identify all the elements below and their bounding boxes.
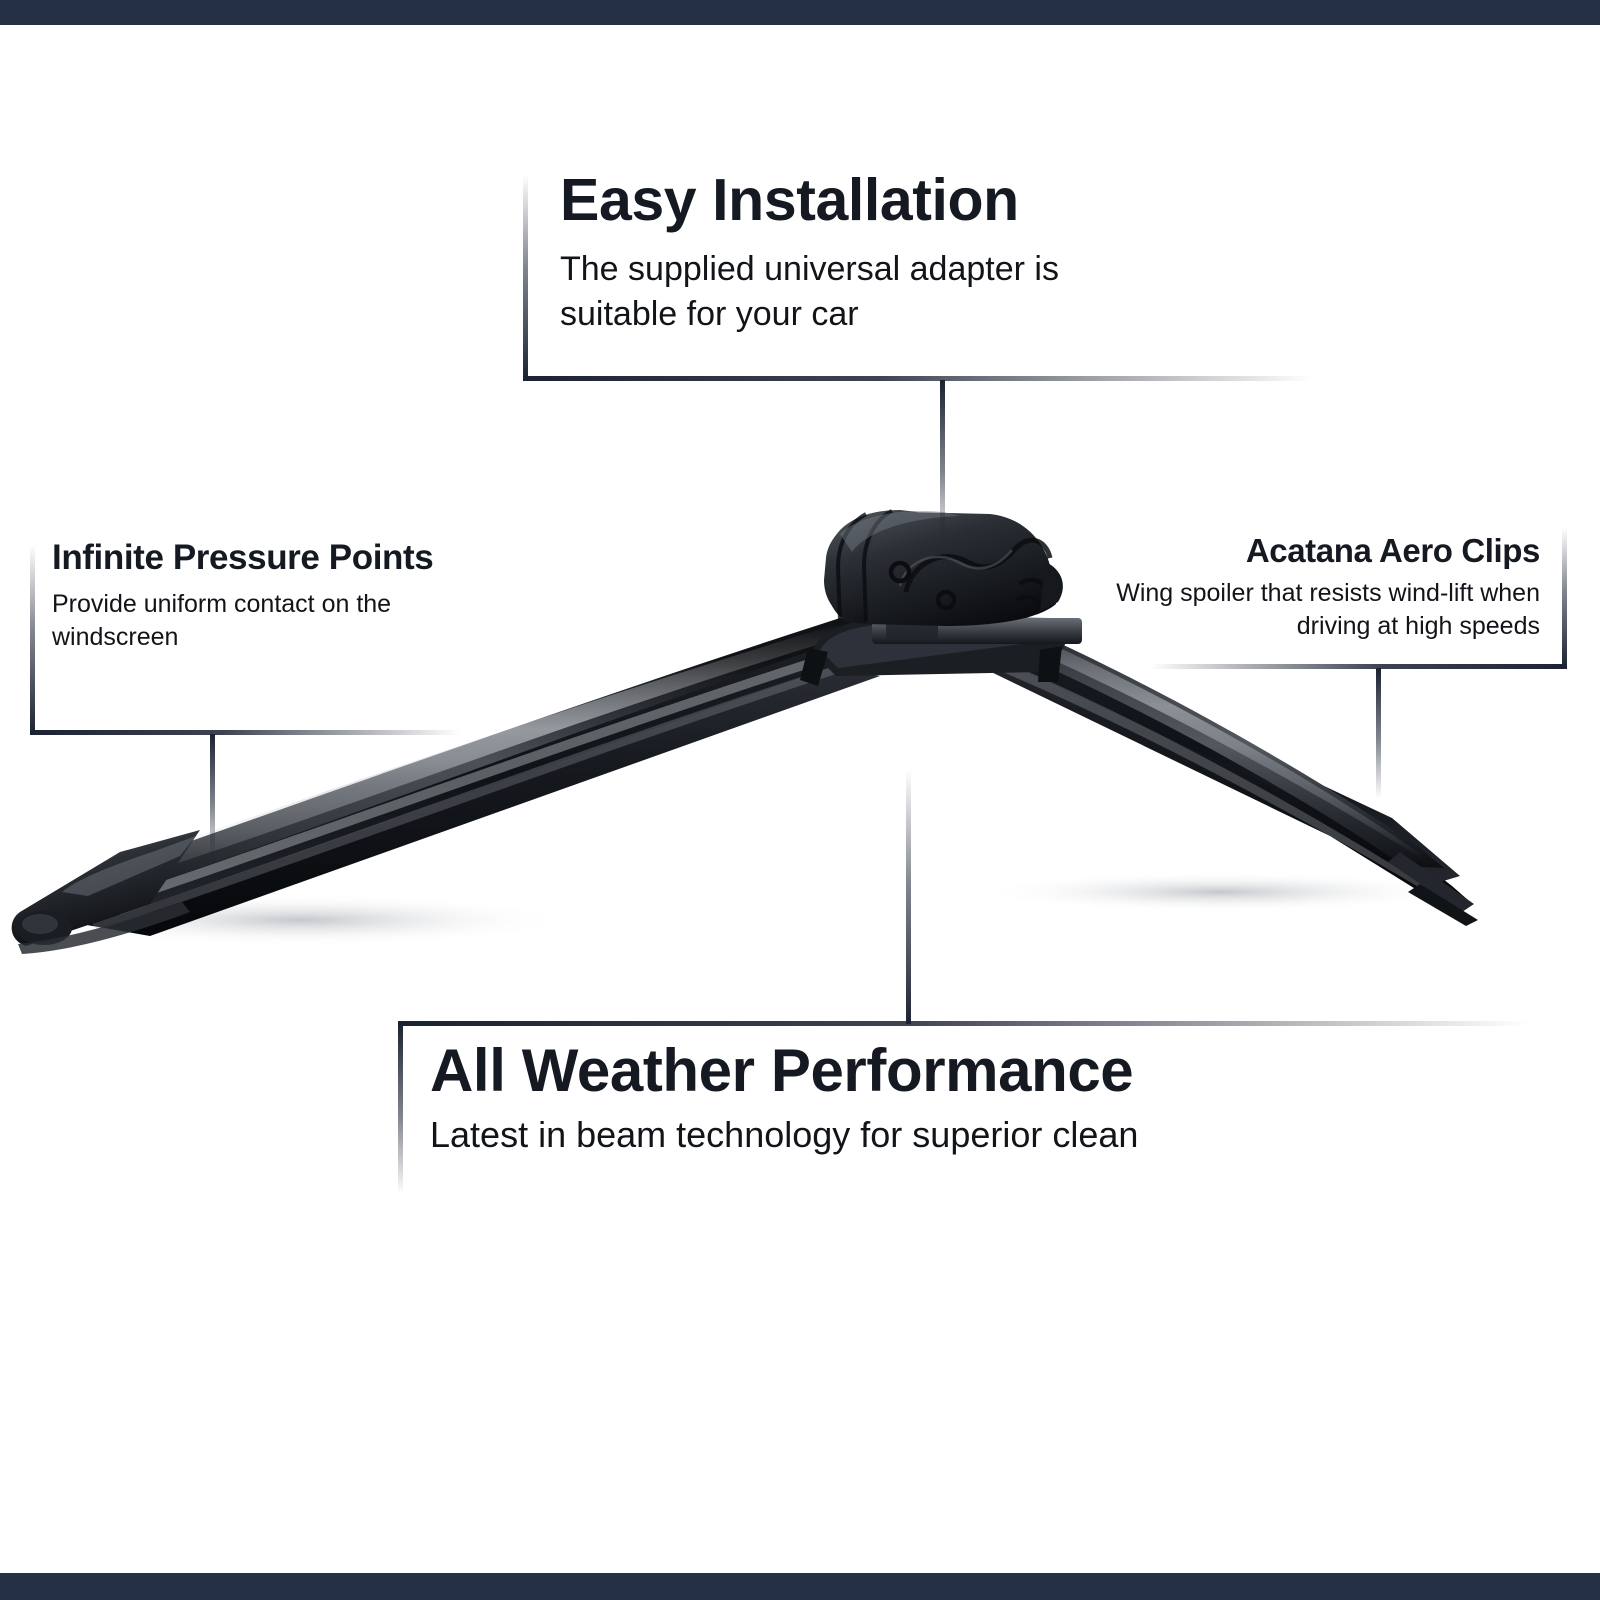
infographic-canvas: Easy Installation The supplied universal… xyxy=(0,0,1600,1600)
callout-title: Easy Installation xyxy=(560,170,1180,231)
callout-body: Provide uniform contact on the windscree… xyxy=(52,588,452,653)
callout-body: Wing spoiler that resists wind-lift when… xyxy=(1090,577,1540,642)
bottom-frame-bar xyxy=(0,1573,1600,1600)
callout-title: Infinite Pressure Points xyxy=(52,540,532,576)
callout-title: All Weather Performance xyxy=(430,1040,1330,1102)
callout-acatana-aero-clips: Acatana Aero Clips Wing spoiler that res… xyxy=(1090,534,1540,642)
callout-body: The supplied universal adapter is suitab… xyxy=(560,247,1130,335)
callout-title: Acatana Aero Clips xyxy=(1090,534,1540,568)
top-frame-bar xyxy=(0,0,1600,25)
callout-body: Latest in beam technology for superior c… xyxy=(430,1112,1330,1159)
callout-all-weather-performance: All Weather Performance Latest in beam t… xyxy=(430,1040,1330,1159)
callout-infinite-pressure-points: Infinite Pressure Points Provide uniform… xyxy=(52,540,532,653)
callout-easy-installation: Easy Installation The supplied universal… xyxy=(560,170,1180,336)
